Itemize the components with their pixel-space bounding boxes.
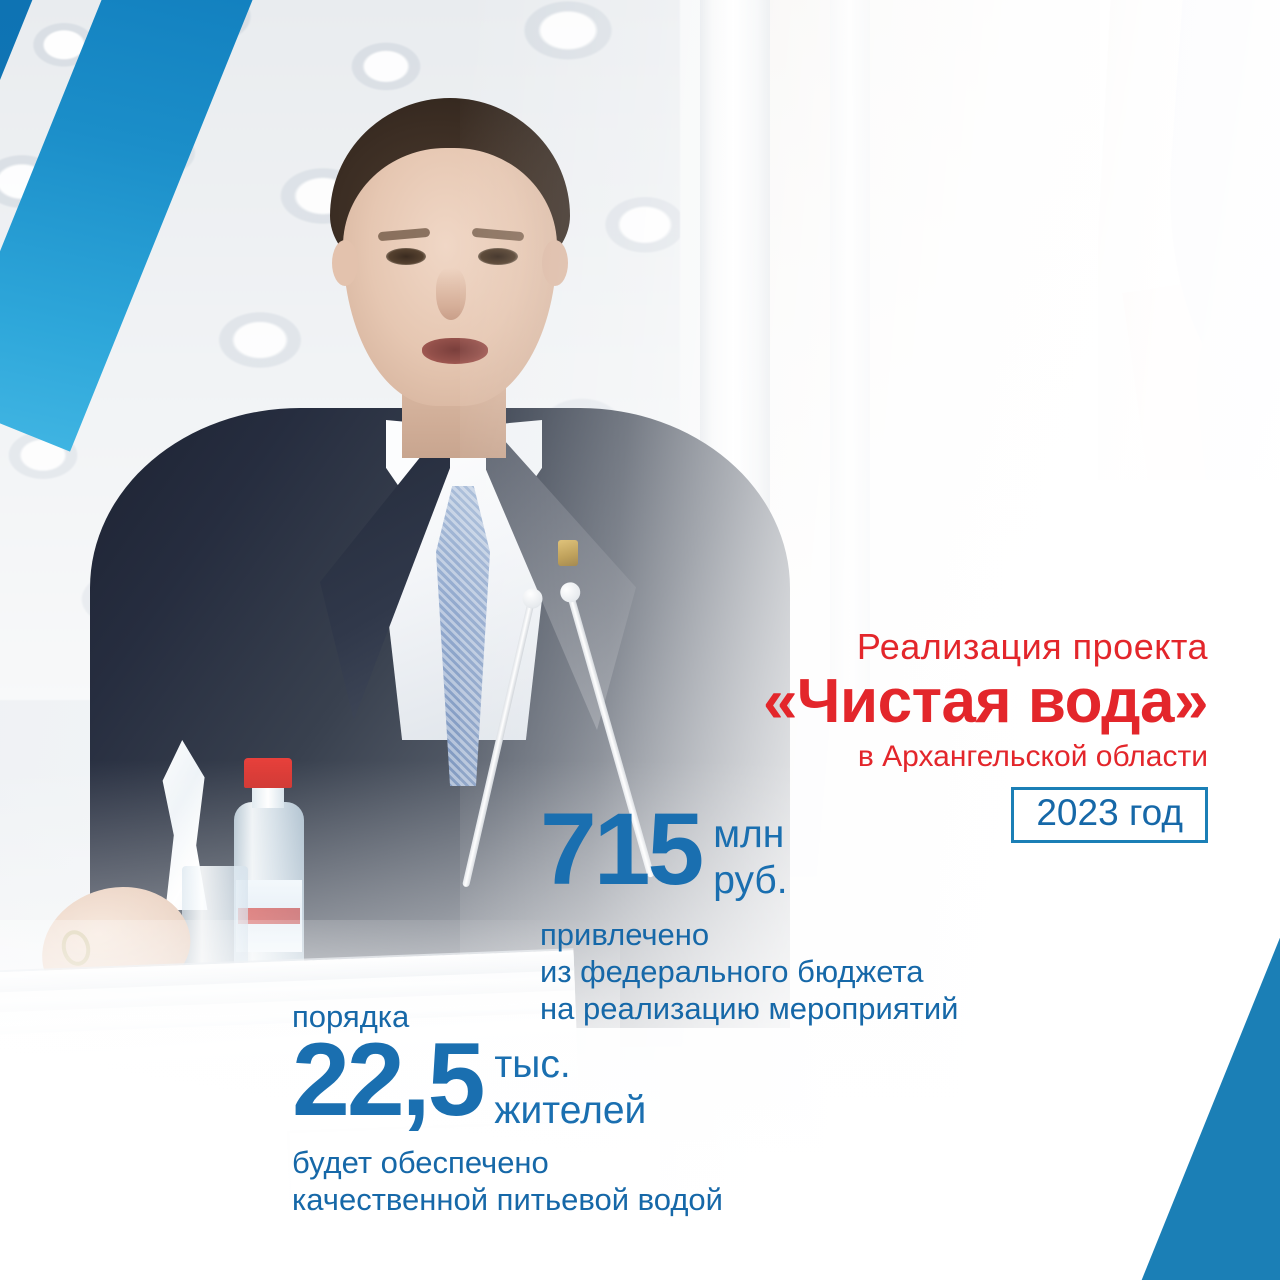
- stat-funding-desc-line-2: из федерального бюджета: [540, 953, 959, 990]
- stat-residents-value-row: 22,5 тыс. жителей: [292, 1036, 723, 1134]
- stat-residents-unit-line-2: жителей: [494, 1088, 646, 1134]
- stat-funding-unit-line-1: млн: [713, 812, 787, 858]
- year-badge: 2023 год: [1011, 787, 1208, 843]
- title-region: в Архангельской области: [763, 740, 1208, 773]
- stat-funding: 715 млн руб. привлечено из федерального …: [540, 806, 959, 1028]
- infographic-poster: Реализация проекта «Чистая вода» в Архан…: [0, 0, 1280, 1280]
- stat-funding-desc-line-1: привлечено: [540, 916, 959, 953]
- stat-funding-value-row: 715 млн руб.: [540, 806, 959, 904]
- stat-funding-unit-line-2: руб.: [713, 858, 787, 904]
- ear-left: [332, 240, 358, 286]
- title-line-1: Реализация проекта: [763, 628, 1208, 666]
- stat-residents-value: 22,5: [292, 1036, 482, 1125]
- stat-residents-unit-line-1: тыс.: [494, 1042, 646, 1088]
- eye-left: [386, 248, 426, 265]
- stat-funding-unit: млн руб.: [713, 812, 787, 904]
- stat-residents: порядка 22,5 тыс. жителей будет обеспече…: [292, 1000, 723, 1219]
- stat-residents-desc-line-2: качественной питьевой водой: [292, 1181, 723, 1218]
- stat-residents-description: будет обеспечено качественной питьевой в…: [292, 1144, 723, 1218]
- stat-residents-desc-line-1: будет обеспечено: [292, 1144, 723, 1181]
- project-name: «Чистая вода»: [763, 668, 1208, 736]
- stat-residents-unit: тыс. жителей: [494, 1042, 646, 1134]
- stat-funding-value: 715: [540, 806, 701, 894]
